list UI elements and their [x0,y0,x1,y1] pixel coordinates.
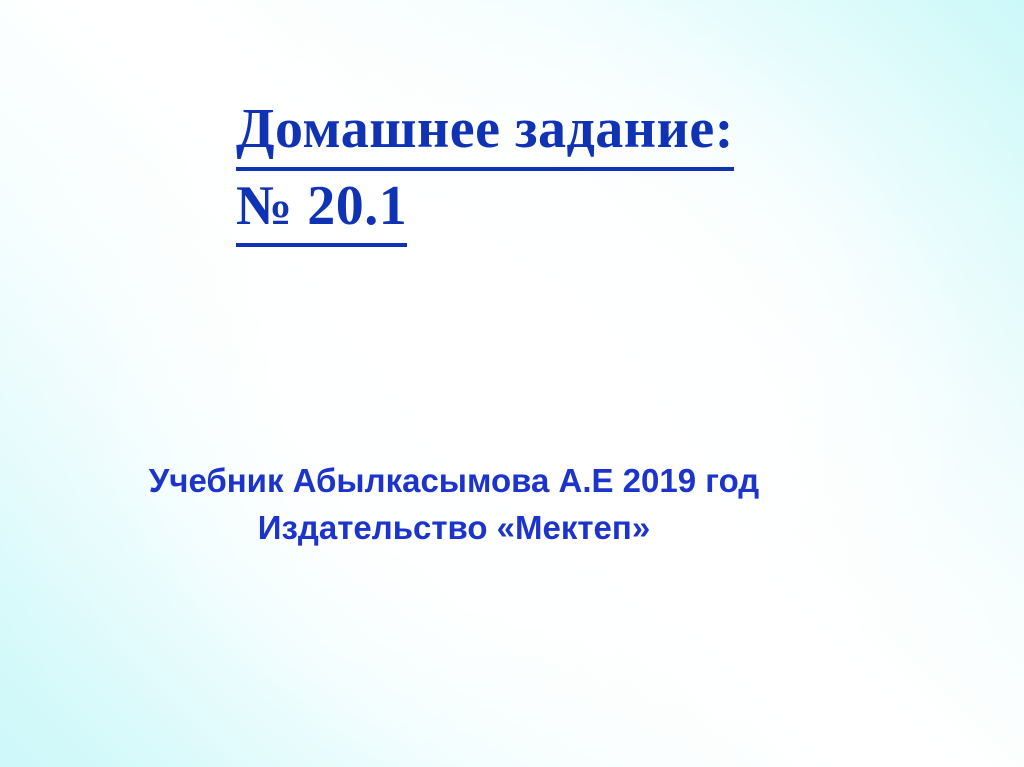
title-line-2: № 20.1 [236,171,936,248]
slide-title: Домашнее задание: № 20.1 [236,94,936,247]
body-line-textbook: Учебник Абылкасымова А.Е 2019 год [34,458,874,505]
body-line-publisher: Издательство «Мектеп» [34,505,874,552]
slide-canvas: Домашнее задание: № 20.1 Учебник Абылкас… [0,0,1024,767]
slide-content: Домашнее задание: № 20.1 Учебник Абылкас… [0,0,1024,767]
title-line-1: Домашнее задание: [236,94,936,171]
title-line-1-text: Домашнее задание: [236,94,734,171]
slide-body: Учебник Абылкасымова А.Е 2019 год Издате… [34,458,874,552]
title-line-2-text: № 20.1 [236,171,407,248]
